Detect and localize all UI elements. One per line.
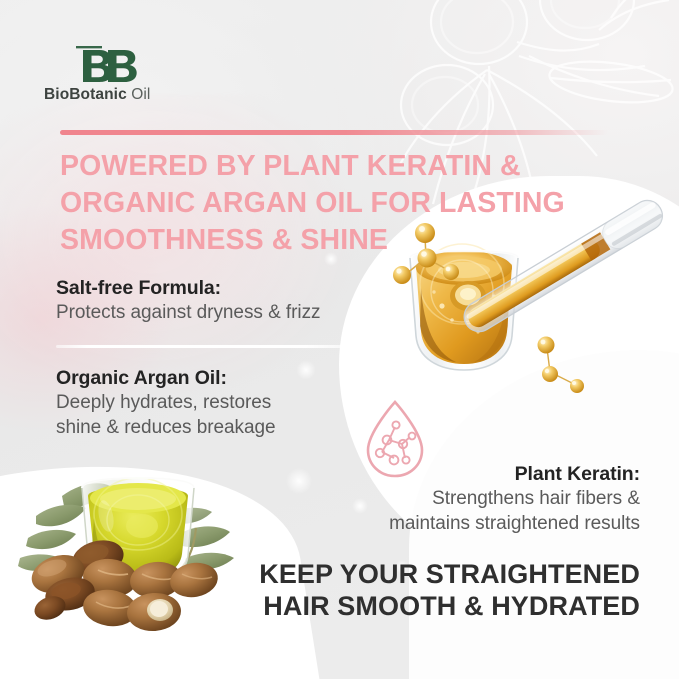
feature-organic-argan-oil: Organic Argan Oil: Deeply hydrates, rest…: [56, 366, 376, 441]
feature-title: Plant Keratin:: [288, 462, 640, 486]
brand-name-light: Oil: [127, 86, 151, 103]
feature-body: Deeply hydrates, restores shine & reduce…: [56, 391, 376, 440]
pink-divider-rule: [60, 130, 608, 135]
feature-divider-rule: [56, 345, 361, 348]
tagline: KEEP YOUR STRAIGHTENED HAIR SMOOTH & HYD…: [240, 558, 640, 623]
feature-title: Salt-free Formula:: [56, 276, 386, 300]
feature-body-line: Deeply hydrates, restores: [56, 391, 376, 416]
brand-name: BioBotanic Oil: [44, 86, 244, 104]
feature-body-line: maintains straightened results: [288, 512, 640, 537]
feature-salt-free-formula: Salt-free Formula: Protects against dryn…: [56, 276, 386, 326]
feature-body: Protects against dryness & frizz: [56, 301, 386, 326]
headline-line-1: POWERED BY PLANT KERATIN &: [60, 148, 640, 185]
bb-monogram-icon: [74, 42, 142, 84]
product-infographic: BioBotanic Oil POWERED BY PLANT KERATIN …: [0, 0, 679, 679]
tagline-line-1: KEEP YOUR STRAIGHTENED: [240, 558, 640, 590]
glass-dropper-with-golden-oil-image: [382, 196, 679, 416]
feature-body-line: shine & reduces breakage: [56, 416, 376, 441]
feature-body-line: Strengthens hair fibers &: [288, 487, 640, 512]
feature-title: Organic Argan Oil:: [56, 366, 376, 390]
argan-nuts-and-oil-bowl-image: [6, 458, 256, 638]
feature-body: Strengthens hair fibers & maintains stra…: [288, 487, 640, 536]
tagline-line-2: HAIR SMOOTH & HYDRATED: [240, 590, 640, 622]
brand-logo[interactable]: BioBotanic Oil: [44, 42, 244, 104]
brand-name-bold: BioBotanic: [44, 86, 127, 103]
feature-plant-keratin: Plant Keratin: Strengthens hair fibers &…: [288, 462, 640, 537]
